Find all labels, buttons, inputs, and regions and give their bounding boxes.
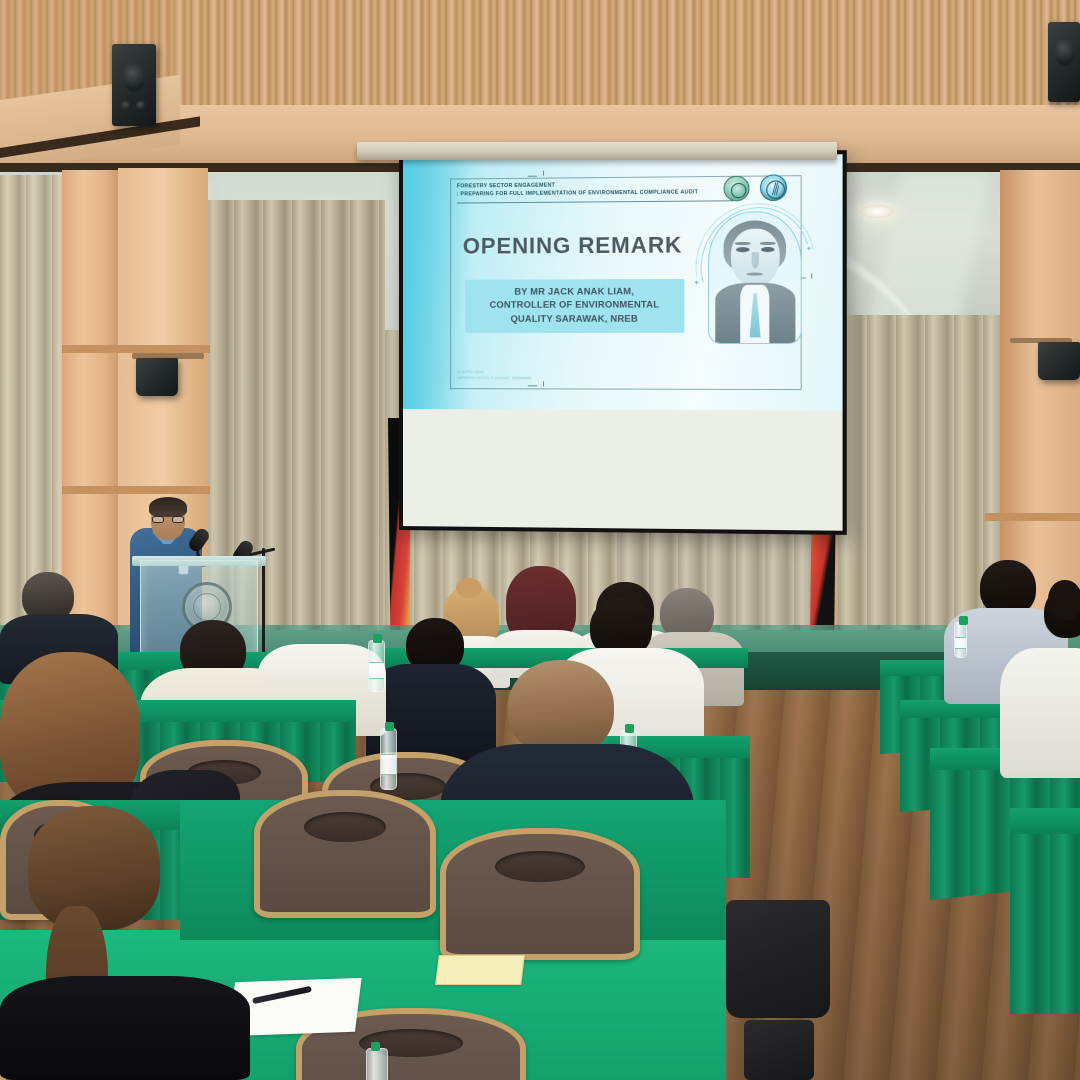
wall-speaker [1048,22,1080,102]
projector-screen-housing [357,142,837,160]
slide-subtitle-box: BY MR JACK ANAK LIAM, CONTROLLER OF ENVI… [465,279,684,333]
projector-screen: FORESTRY SECTOR ENGAGEMENT : PREPARING F… [399,150,847,535]
pillar-trim-right [985,513,1080,521]
pillar-trim [62,486,210,494]
ceiling-wooden-slats-upper [175,0,1080,112]
yellow-notepad [435,955,525,985]
slide-footer-line-2: IMPERIAL HOTEL KUCHING, SARAWAK [457,375,675,382]
slide-footer: 22 APRIL 2024 IMPERIAL HOTEL KUCHING, SA… [457,369,675,382]
wall-pillar-right [1000,170,1080,610]
microphone-pole [262,548,265,668]
water-bottle [380,728,397,790]
presentation-slide: FORESTRY SECTOR ENGAGEMENT : PREPARING F… [403,154,843,410]
water-bottle [954,622,967,658]
water-bottle [368,640,385,692]
banquet-chair [440,828,640,960]
shoe [744,1020,814,1080]
ceiling-light [860,205,894,218]
wall-speaker [136,358,178,396]
hair-bun [456,578,482,598]
forestry-department-logo-icon [760,174,787,201]
slide-header: FORESTRY SECTOR ENGAGEMENT : PREPARING F… [457,181,746,199]
wall-speaker [1038,342,1080,380]
presenter-glasses-icon [152,516,184,523]
slide-title: OPENING REMARK [437,232,708,260]
conference-hall-photo: FORESTRY SECTOR ENGAGEMENT : PREPARING F… [0,0,1080,1080]
slide-subtitle-line-3: QUALITY SARAWAK, NREB [469,312,679,326]
table-row-right [1010,808,1080,836]
backpack [726,900,830,1018]
banquet-chair [254,790,436,918]
water-bottle [366,1048,388,1080]
presenter-hair [149,497,187,517]
table-skirt [1010,834,1080,1014]
slide-subtitle-line-2: CONTROLLER OF ENVIRONMENTAL [469,299,679,313]
wall-speaker [112,44,156,126]
speaker-portrait-illustration: ✦ ✦ [708,211,802,344]
pillar-trim [62,345,210,353]
slide-subtitle-line-1: BY MR JACK ANAK LIAM, [469,285,679,299]
